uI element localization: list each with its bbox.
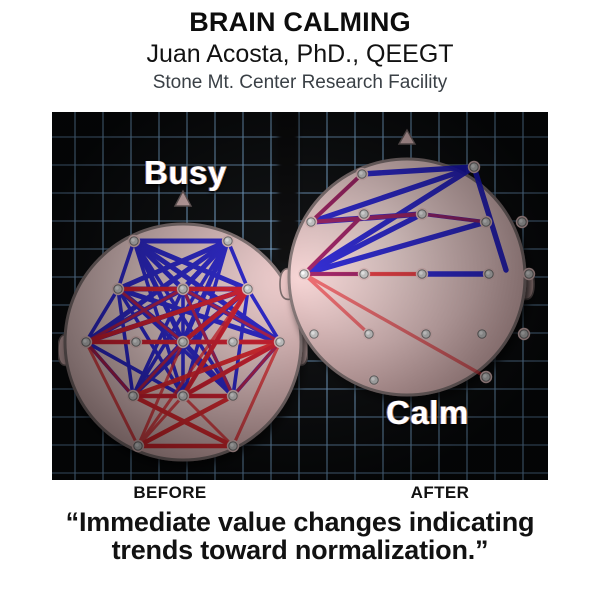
qeeg-scan-panel: Busy Calm [52, 112, 548, 480]
page-title: BRAIN CALMING [0, 0, 600, 37]
author-line: Juan Acosta, PhD., QEEGT [0, 37, 600, 68]
scan-label-busy: Busy [144, 154, 227, 192]
caption-before: BEFORE [100, 483, 240, 503]
poster-root: BRAIN CALMING Juan Acosta, PhD., QEEGT S… [0, 0, 600, 600]
quote-line-2: trends toward normalization.” [18, 536, 582, 564]
quote-line-1: “Immediate value changes indicating [66, 507, 535, 537]
scan-label-calm: Calm [386, 394, 469, 432]
quote-block: “Immediate value changes indicating tren… [18, 508, 582, 565]
facility-line: Stone Mt. Center Research Facility [0, 68, 600, 93]
head-map-before [58, 184, 308, 474]
head-map-after [274, 122, 539, 412]
header: BRAIN CALMING Juan Acosta, PhD., QEEGT S… [0, 0, 600, 93]
caption-after: AFTER [370, 483, 510, 503]
